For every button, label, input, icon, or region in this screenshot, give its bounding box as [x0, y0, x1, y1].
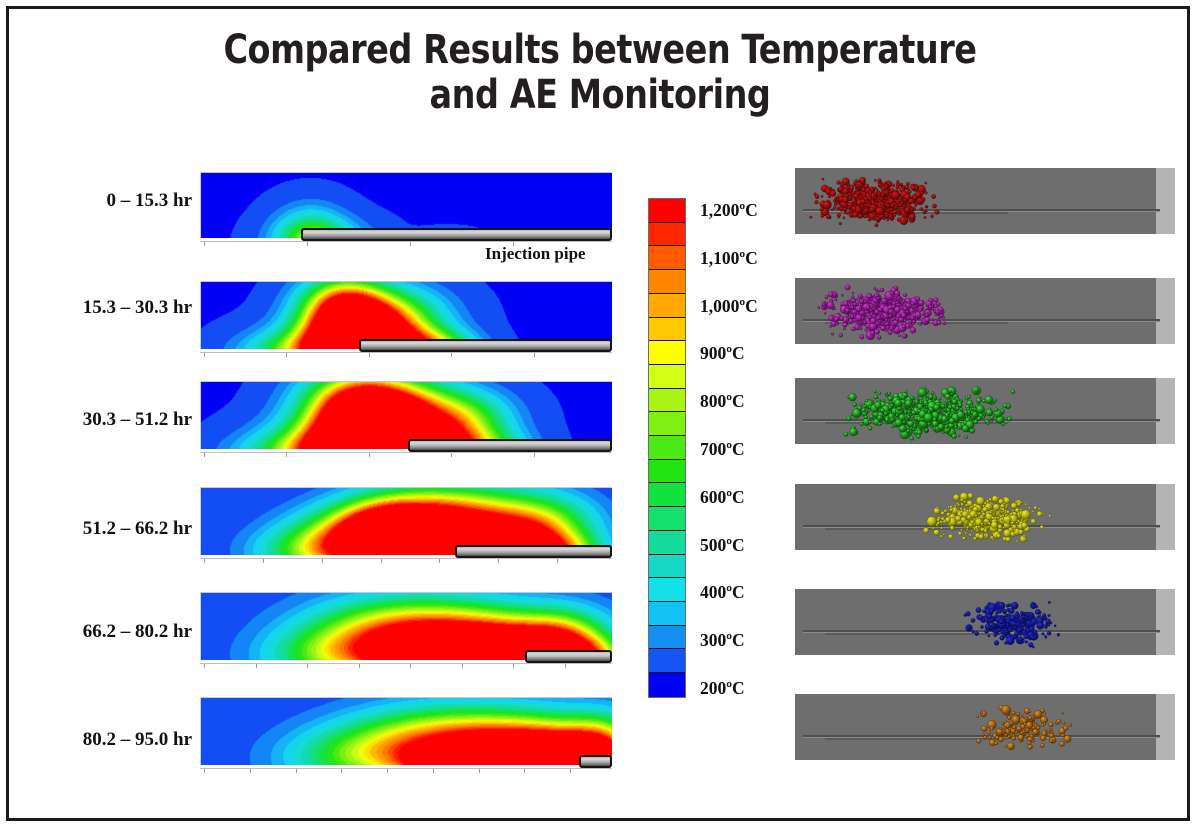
ae-event-dot	[874, 390, 877, 393]
ae-event-dot	[867, 201, 869, 203]
ae-event-dot	[1005, 515, 1007, 517]
ae-event-dot	[906, 182, 909, 185]
colorbar-band-5	[649, 318, 685, 342]
ae-event-dot	[1047, 624, 1050, 627]
x-axis-tick	[387, 769, 388, 773]
ae-event-dot	[960, 498, 964, 502]
ae-event-dot	[979, 534, 984, 539]
ae-event-dot	[960, 529, 962, 531]
ae-event-dot	[1043, 712, 1046, 715]
ae-event-dot	[903, 307, 907, 311]
ae-event-dot	[891, 217, 893, 219]
ae-event-dot	[968, 493, 974, 499]
ae-event-dot	[1005, 614, 1008, 617]
ae-event-dot	[899, 204, 902, 207]
ae-event-dot	[869, 193, 872, 196]
ae-event-dot	[1035, 605, 1038, 608]
x-axis-tick	[498, 559, 499, 563]
ae-event-dot	[969, 510, 972, 513]
ae-event-dot	[998, 602, 1005, 609]
ae-event-dot	[909, 206, 912, 209]
ae-event-dot	[941, 404, 945, 408]
ae-event-scatter-1	[795, 278, 1175, 344]
ae-event-dot	[1027, 623, 1030, 626]
ae-event-dot	[988, 522, 991, 525]
ae-event-dot	[874, 402, 881, 409]
ae-event-dot	[872, 314, 876, 318]
ae-event-dot	[831, 321, 836, 326]
ae-event-dot	[1026, 628, 1030, 632]
ae-event-dot	[955, 516, 961, 522]
ae-event-dot	[976, 607, 981, 612]
ae-event-dot	[905, 400, 912, 407]
ae-event-dot	[910, 316, 914, 320]
ae-event-dot	[864, 321, 866, 323]
ae-event-dot	[976, 405, 985, 414]
ae-event-dot	[898, 209, 901, 212]
ae-event-dot	[931, 194, 935, 198]
ae-event-dot	[984, 534, 986, 536]
ae-event-dot	[860, 199, 865, 204]
ae-event-dot	[982, 610, 985, 613]
ae-event-dot	[886, 197, 888, 199]
ae-event-dot	[875, 223, 879, 227]
ae-event-dot	[921, 400, 923, 402]
ae-event-dot	[874, 179, 877, 182]
ae-event-dot	[852, 309, 857, 314]
ae-event-dot	[1045, 624, 1047, 626]
colorbar-label-6: 600ºC	[700, 487, 745, 508]
injection-pipe-2	[408, 439, 612, 452]
ae-event-dot	[976, 398, 981, 403]
x-axis-tick	[524, 769, 525, 773]
figure-title: Compared Results between Temperature and…	[42, 28, 1158, 118]
ae-event-dot	[932, 421, 938, 427]
ae-event-dot	[810, 216, 813, 219]
ae-event-dot	[989, 498, 992, 501]
ae-event-dot	[864, 415, 868, 419]
ae-event-dot	[924, 191, 927, 194]
ae-event-dot	[954, 505, 956, 507]
ae-event-dot	[839, 222, 842, 225]
ae-event-dot	[943, 533, 945, 535]
ae-event-dot	[887, 219, 889, 221]
x-axis-tick	[204, 353, 205, 357]
ae-event-dot	[869, 207, 874, 212]
ae-event-dot	[874, 310, 879, 315]
ae-event-dot	[981, 523, 984, 526]
ae-event-dot	[887, 204, 890, 207]
ae-event-dot	[932, 319, 934, 321]
ae-event-dot	[870, 331, 875, 336]
ae-monitoring-panel-3	[795, 484, 1175, 550]
ae-event-dot	[828, 315, 834, 321]
ae-event-dot	[836, 323, 839, 326]
ae-event-dot	[911, 416, 914, 419]
ae-event-dot	[851, 306, 854, 309]
ae-event-dot	[1057, 719, 1061, 723]
ae-event-dot	[976, 528, 978, 530]
x-axis-tick	[307, 242, 308, 246]
x-axis-tick	[513, 664, 514, 668]
ae-event-dot	[1018, 619, 1021, 622]
ae-event-dot	[1042, 632, 1045, 635]
ae-event-dot	[941, 517, 945, 521]
ae-event-dot	[991, 521, 998, 528]
ae-event-dot	[982, 734, 984, 736]
ae-event-dot	[885, 392, 888, 395]
ae-monitoring-panel-5	[795, 694, 1175, 760]
ae-event-dot	[818, 306, 820, 308]
injection-pipe-4	[525, 650, 612, 663]
ae-event-dot	[929, 305, 933, 309]
ae-event-dot	[1040, 744, 1044, 748]
ae-event-dot	[924, 395, 926, 397]
x-axis-tick	[204, 559, 205, 563]
x-axis-tick	[369, 353, 370, 357]
ae-event-dot	[1011, 390, 1015, 394]
colorbar-label-3: 900ºC	[700, 343, 745, 364]
ae-event-dot	[1034, 710, 1042, 718]
ae-event-dot	[1006, 510, 1009, 513]
ae-event-dot	[898, 199, 901, 202]
ae-event-dot	[905, 185, 909, 189]
ae-event-dot	[1022, 640, 1025, 643]
ae-event-dot	[895, 189, 897, 191]
ae-event-dot	[931, 215, 934, 218]
ae-event-dot	[827, 200, 830, 203]
ae-event-dot	[873, 195, 876, 198]
ae-event-dot	[884, 411, 888, 415]
ae-event-dot	[875, 289, 878, 292]
ae-event-dot	[902, 325, 906, 329]
ae-event-dot	[981, 516, 984, 519]
colorbar-band-16	[649, 578, 685, 602]
colorbar-band-3	[649, 270, 685, 294]
ae-event-dot	[1006, 637, 1014, 645]
ae-event-dot	[1040, 525, 1044, 529]
ae-event-dot	[990, 416, 994, 420]
ae-event-dot	[949, 418, 955, 424]
ae-event-dot	[906, 429, 910, 433]
ae-event-dot	[978, 512, 981, 515]
ae-event-dot	[901, 396, 905, 400]
x-axis-tick	[204, 453, 205, 457]
ae-monitoring-panel-0	[795, 168, 1175, 234]
ae-event-dot	[868, 420, 871, 423]
x-axis-tick	[479, 769, 480, 773]
ae-event-dot	[989, 609, 994, 614]
ae-event-dot	[945, 394, 951, 400]
injection-pipe-label: Injection pipe	[485, 244, 586, 264]
ae-event-dot	[973, 537, 977, 541]
ae-event-dot	[852, 200, 856, 204]
ae-event-dot	[978, 615, 983, 620]
ae-event-dot	[860, 335, 865, 340]
ae-event-dot	[995, 736, 999, 740]
ae-event-dot	[843, 323, 848, 328]
ae-event-dot	[1006, 619, 1010, 623]
colorbar-label-8: 400ºC	[700, 582, 745, 603]
ae-event-dot	[1041, 723, 1044, 726]
ae-event-scatter-4	[795, 589, 1175, 655]
ae-event-scatter-0	[795, 168, 1175, 234]
ae-event-dot	[864, 184, 869, 189]
ae-event-dot	[854, 418, 856, 420]
ae-event-dot	[987, 731, 990, 734]
ae-event-dot	[1015, 508, 1020, 513]
ae-event-dot	[888, 213, 890, 215]
ae-event-dot	[895, 296, 897, 298]
colorbar-label-2: 1,000ºC	[700, 296, 758, 317]
ae-event-dot	[879, 312, 882, 315]
ae-event-dot	[933, 428, 936, 431]
ae-event-dot	[853, 212, 859, 218]
colorbar-band-18	[649, 626, 685, 650]
ae-event-dot	[852, 295, 855, 298]
ae-event-dot	[1020, 611, 1023, 614]
ae-event-dot	[839, 333, 843, 337]
ae-event-dot	[1037, 622, 1044, 629]
ae-monitoring-panel-2	[795, 378, 1175, 444]
ae-event-dot	[880, 422, 882, 424]
ae-event-dot	[994, 742, 998, 746]
ae-event-dot	[909, 320, 912, 323]
ae-event-dot	[1032, 732, 1034, 734]
ae-event-dot	[843, 328, 845, 330]
ae-event-dot	[888, 396, 893, 401]
ae-event-dot	[847, 305, 849, 307]
ae-event-scatter-3	[795, 484, 1175, 550]
ae-event-dot	[833, 206, 836, 209]
ae-event-dot	[925, 210, 928, 213]
ae-event-dot	[1021, 510, 1031, 519]
x-axis-tick	[250, 769, 251, 773]
ae-event-dot	[856, 184, 859, 187]
ae-event-dot	[909, 304, 912, 307]
ae-event-dot	[1064, 735, 1071, 742]
ae-event-dot	[928, 394, 933, 399]
ae-event-dot	[860, 204, 863, 207]
ae-event-dot	[893, 320, 898, 325]
ae-event-dot	[1023, 624, 1025, 626]
ae-event-dot	[830, 190, 836, 196]
x-axis-tick	[204, 664, 205, 668]
ae-event-dot	[982, 507, 987, 512]
injection-pipe-5	[579, 755, 612, 768]
ae-event-dot	[994, 615, 998, 619]
ae-event-dot	[972, 412, 978, 418]
ae-event-dot	[874, 215, 876, 217]
ae-event-dot	[967, 515, 972, 520]
ae-event-dot	[994, 633, 997, 636]
ae-event-dot	[894, 286, 898, 290]
x-axis-tick	[565, 664, 566, 668]
ae-event-dot	[1004, 721, 1007, 724]
ae-event-dot	[950, 505, 953, 508]
colorbar-band-7	[649, 365, 685, 389]
ae-event-dot	[932, 204, 936, 208]
ae-event-dot	[999, 727, 1002, 730]
ae-event-dot	[896, 185, 899, 188]
ae-event-dot	[996, 534, 1000, 538]
ae-event-dot	[909, 413, 911, 415]
ae-event-dot	[936, 506, 938, 508]
ae-event-dot	[902, 334, 907, 339]
ae-event-dot	[825, 296, 828, 299]
colorbar-band-8	[649, 389, 685, 413]
ae-event-dot	[821, 214, 824, 217]
ae-event-dot	[953, 494, 959, 500]
ae-event-dot	[1005, 418, 1008, 421]
ae-event-dot	[1006, 604, 1009, 607]
ae-event-dot	[1005, 734, 1008, 737]
ae-event-dot	[910, 436, 914, 440]
ae-event-dot	[894, 210, 897, 213]
x-axis-line-1	[200, 352, 612, 353]
ae-event-dot	[954, 425, 957, 428]
injection-pipe-3	[455, 545, 612, 558]
ae-event-dot	[1007, 417, 1012, 422]
ae-event-dot	[939, 397, 942, 400]
ae-event-dot	[888, 196, 890, 198]
ae-event-dot	[838, 187, 843, 192]
ae-event-dot	[878, 392, 881, 395]
row-label-1: 15.3 – 30.3 hr	[22, 297, 192, 319]
ae-event-dot	[966, 526, 969, 529]
ae-event-dot	[1028, 745, 1033, 750]
ae-event-dot	[940, 535, 943, 538]
colorbar-label-10: 200ºC	[700, 678, 745, 699]
x-axis-tick	[307, 664, 308, 668]
ae-event-dot	[1007, 735, 1010, 738]
ae-event-dot	[992, 625, 995, 628]
ae-event-dot	[925, 182, 927, 184]
ae-event-dot	[911, 185, 916, 190]
ae-event-dot	[896, 414, 899, 417]
ae-event-scatter-2	[795, 378, 1175, 444]
ae-event-dot	[891, 425, 894, 428]
ae-event-dot	[915, 400, 919, 404]
ae-event-dot	[1031, 622, 1034, 625]
ae-event-dot	[971, 521, 975, 525]
ae-event-dot	[924, 216, 927, 219]
ae-event-dot	[983, 736, 986, 739]
row-label-0: 0 – 15.3 hr	[22, 190, 192, 212]
ae-event-dot	[1044, 617, 1047, 620]
ae-event-dot	[1035, 609, 1040, 614]
ae-event-dot	[1008, 716, 1012, 720]
ae-event-dot	[1011, 522, 1014, 525]
ae-event-dot	[1047, 729, 1050, 732]
ae-event-dot	[870, 318, 876, 324]
ae-event-dot	[914, 204, 917, 207]
ae-event-dot	[877, 336, 881, 340]
ae-event-dot	[834, 317, 839, 322]
ae-event-dot	[845, 308, 849, 312]
ae-event-dot	[1012, 736, 1016, 740]
ae-event-dot	[1024, 503, 1026, 505]
ae-event-dot	[948, 405, 952, 409]
ae-event-dot	[876, 207, 884, 215]
ae-event-dot	[972, 630, 975, 633]
ae-event-dot	[896, 180, 899, 183]
colorbar-band-9	[649, 412, 685, 436]
colorbar-label-1: 1,100ºC	[700, 248, 758, 269]
ae-event-dot	[1026, 734, 1030, 738]
ae-event-dot	[925, 314, 928, 317]
ae-event-dot	[964, 614, 967, 617]
ae-event-dot	[852, 292, 854, 294]
ae-event-dot	[947, 506, 949, 508]
ae-event-dot	[908, 421, 914, 427]
ae-event-dot	[996, 608, 998, 610]
ae-event-dot	[990, 727, 994, 731]
ae-event-dot	[1001, 618, 1004, 621]
ae-event-dot	[815, 194, 819, 198]
x-axis-tick	[286, 353, 287, 357]
ae-event-dot	[1024, 634, 1029, 639]
ae-event-dot	[1014, 632, 1019, 637]
ae-event-dot	[1054, 625, 1056, 627]
ae-event-dot	[960, 408, 963, 411]
ae-event-dot	[831, 208, 833, 210]
ae-event-dot	[1023, 535, 1026, 538]
x-axis-line-0	[200, 241, 612, 242]
ae-event-dot	[849, 189, 852, 192]
ae-event-dot	[969, 534, 972, 537]
ae-event-dot	[865, 328, 868, 331]
ae-event-dot	[822, 178, 824, 180]
ae-event-dot	[1019, 633, 1022, 636]
ae-event-dot	[919, 300, 925, 306]
ae-event-dot	[840, 316, 844, 320]
ae-event-dot	[864, 404, 867, 407]
ae-event-dot	[941, 416, 948, 423]
ae-event-dot	[958, 435, 960, 437]
ae-event-dot	[869, 301, 872, 304]
ae-event-dot	[943, 316, 945, 318]
ae-event-dot	[1003, 609, 1007, 613]
ae-event-dot	[878, 184, 881, 187]
x-axis-tick	[286, 453, 287, 457]
x-axis-tick	[451, 453, 452, 457]
ae-event-dot	[888, 305, 893, 310]
ae-event-dot	[868, 316, 871, 319]
ae-event-dot	[955, 407, 959, 411]
ae-event-dot	[987, 614, 992, 619]
ae-event-dot	[916, 434, 920, 438]
ae-event-dot	[982, 726, 987, 731]
ae-event-dot	[998, 524, 1003, 529]
ae-event-dot	[889, 326, 893, 330]
ae-event-dot	[898, 335, 900, 337]
colorbar-band-0	[649, 199, 685, 223]
ae-event-dot	[932, 527, 935, 530]
ae-event-dot	[848, 206, 851, 209]
ae-event-dot	[949, 390, 952, 393]
ae-event-dot	[931, 392, 934, 395]
ae-event-dot	[912, 411, 916, 415]
ae-event-dot	[1031, 519, 1036, 524]
ae-event-dot	[880, 288, 884, 292]
ae-event-dot	[868, 426, 872, 430]
ae-event-dot	[975, 631, 979, 635]
ae-event-dot	[823, 201, 832, 210]
ae-event-dot	[988, 736, 991, 739]
ae-event-dot	[1021, 722, 1023, 724]
ae-event-dot	[1017, 712, 1020, 715]
